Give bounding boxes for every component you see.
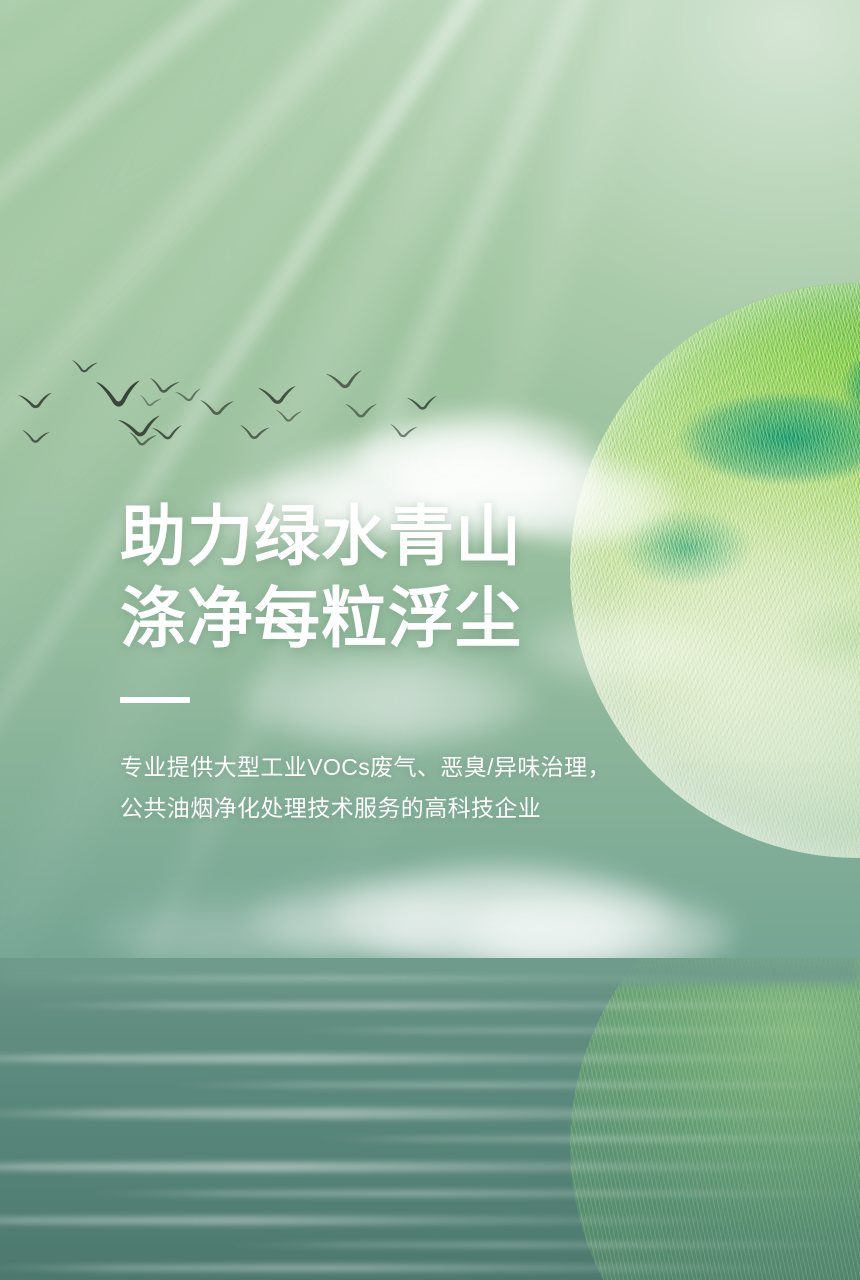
water-surface <box>0 958 860 1280</box>
subtitle-line-2: 公共油烟净化处理技术服务的高科技企业 <box>120 788 660 829</box>
bird-icon <box>96 380 141 407</box>
bird-icon <box>326 370 363 390</box>
water-ripple <box>31 976 749 981</box>
headline-divider <box>120 697 190 703</box>
headline-line-1: 助力绿水青山 <box>120 495 660 577</box>
bird-icon <box>118 416 162 439</box>
water-ripple <box>221 1242 860 1248</box>
hero-text-block: 助力绿水青山 涤净每粒浮尘 专业提供大型工业VOCs废气、恶臭/异味治理， 公共… <box>120 495 660 829</box>
water-ripple <box>0 1108 860 1119</box>
bird-icon <box>199 400 233 416</box>
bird-icon <box>258 386 297 405</box>
water-ripple <box>161 1082 860 1088</box>
water-ripple <box>81 1190 860 1197</box>
water-ripple <box>291 1028 860 1033</box>
bird-icon <box>239 425 270 440</box>
cloud-icon-6 <box>330 860 670 970</box>
bird-icon <box>148 378 179 395</box>
bird-icon <box>71 360 98 374</box>
headline-line-2: 涤净每粒浮尘 <box>120 577 660 659</box>
bird-icon <box>275 410 302 422</box>
cloud-icon-2 <box>360 408 600 504</box>
water-ripple <box>311 1136 860 1142</box>
bird-icon <box>345 404 377 418</box>
bird-icon <box>21 430 50 444</box>
water-ripple <box>11 1002 860 1009</box>
cloud-icon-7 <box>246 880 476 960</box>
bird-icon <box>138 395 161 408</box>
bird-icon <box>128 432 157 447</box>
bird-icon <box>152 425 183 440</box>
bird-icon <box>18 393 53 410</box>
bird-icon <box>407 396 438 411</box>
bird-icon <box>389 424 418 439</box>
bird-icon <box>175 388 202 403</box>
water-ripple <box>0 1264 839 1272</box>
eco-hero-poster: 助力绿水青山 涤净每粒浮尘 专业提供大型工业VOCs废气、恶臭/异味治理， 公共… <box>0 0 860 1280</box>
subtitle-line-1: 专业提供大型工业VOCs废气、恶臭/异味治理， <box>120 747 660 788</box>
